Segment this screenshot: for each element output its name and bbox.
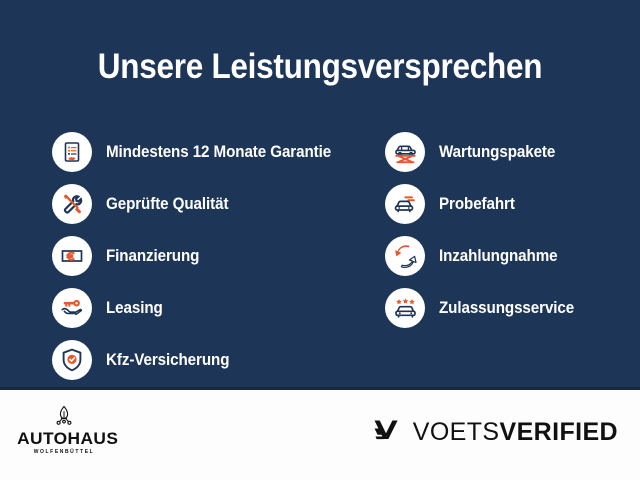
benefits-column-right: Wartungspakete bbox=[385, 126, 586, 334]
voets-verified-wordmark: VOETSVERIFIED bbox=[413, 420, 618, 445]
wrench-screwdriver-icon bbox=[52, 184, 92, 224]
car-speed-icon bbox=[385, 184, 425, 224]
document-checklist-icon bbox=[52, 132, 92, 172]
autohaus-emblem-icon bbox=[18, 403, 110, 429]
benefit-label: Wartungspakete bbox=[439, 143, 555, 162]
dealer-logo: AUTOHAUS WOLFENBÜTTEL bbox=[18, 403, 110, 455]
benefit-item-versicherung: Kfz-Versicherung bbox=[52, 334, 351, 386]
voets-verified-logo: VOETSVERIFIED bbox=[372, 416, 618, 449]
benefit-item-garantie: Mindestens 12 Monate Garantie bbox=[52, 126, 351, 178]
benefit-item-wartungspakete: Wartungspakete bbox=[385, 126, 586, 178]
benefit-item-leasing: Leasing bbox=[52, 282, 351, 334]
car-stars-icon bbox=[385, 288, 425, 328]
benefits-column-left: Mindestens 12 Monate Garantie bbox=[52, 126, 351, 386]
euro-banknote-icon bbox=[52, 236, 92, 276]
exchange-arrows-icon bbox=[385, 236, 425, 276]
hero-panel: Unsere Leistungsversprechen bbox=[0, 0, 640, 389]
dealer-city: WOLFENBÜTTEL bbox=[18, 450, 110, 455]
footer-bar: AUTOHAUS WOLFENBÜTTEL VOETSVERIFIED bbox=[0, 390, 640, 480]
benefit-item-probefahrt: Probefahrt bbox=[385, 178, 586, 230]
shield-check-icon bbox=[52, 340, 92, 380]
voets-suffix: VERIFIED bbox=[500, 418, 619, 446]
benefit-label: Zulassungsservice bbox=[439, 299, 574, 318]
car-on-lift-icon bbox=[385, 132, 425, 172]
benefit-item-zulassungsservice: Zulassungsservice bbox=[385, 282, 586, 334]
voets-check-icon bbox=[372, 416, 402, 449]
key-in-hand-icon bbox=[52, 288, 92, 328]
benefit-item-finanzierung: Finanzierung bbox=[52, 230, 351, 282]
benefit-label: Leasing bbox=[106, 299, 163, 318]
benefit-label: Inzahlungnahme bbox=[439, 247, 557, 266]
benefit-label: Geprüfte Qualität bbox=[106, 195, 228, 214]
benefit-label: Finanzierung bbox=[106, 247, 199, 266]
benefit-label: Mindestens 12 Monate Garantie bbox=[106, 143, 331, 162]
benefit-item-qualitaet: Geprüfte Qualität bbox=[52, 178, 351, 230]
benefit-label: Kfz-Versicherung bbox=[106, 351, 229, 370]
page-title: Unsere Leistungsversprechen bbox=[32, 47, 608, 87]
benefits-grid: Mindestens 12 Monate Garantie bbox=[0, 126, 640, 376]
benefit-label: Probefahrt bbox=[439, 195, 515, 214]
dealer-name: AUTOHAUS bbox=[17, 430, 111, 447]
benefit-item-inzahlungnahme: Inzahlungnahme bbox=[385, 230, 586, 282]
voets-brand: VOETS bbox=[413, 418, 500, 446]
promo-graphic: Unsere Leistungsversprechen bbox=[0, 0, 640, 480]
